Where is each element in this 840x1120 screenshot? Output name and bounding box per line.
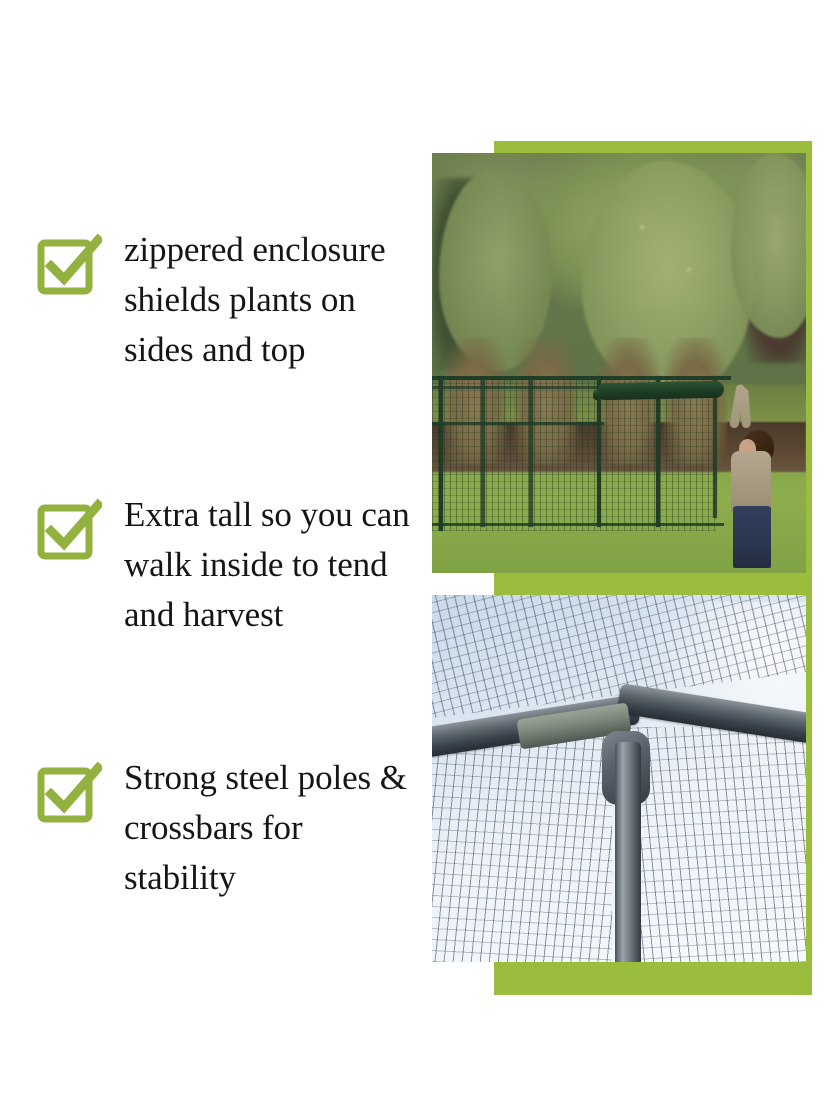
- feature-label: Extra tall so you can walk inside to ten…: [124, 490, 414, 640]
- feature-item: Strong steel poles & crossbars for stabi…: [36, 753, 414, 903]
- enclosure-pole: [597, 376, 601, 527]
- photo-garden-enclosure: [432, 153, 806, 573]
- feature-label: zippered enclosure shields plants on sid…: [124, 225, 414, 375]
- rolled-netting-bundle: [596, 381, 723, 401]
- steel-crossbar-right: [617, 683, 806, 745]
- enclosure-mid-rail: [432, 422, 604, 425]
- enclosure-pole: [713, 376, 717, 519]
- person-torso: [731, 451, 771, 513]
- checkbox-checked-icon: [36, 761, 102, 827]
- checkbox-checked-icon: [36, 498, 102, 564]
- netting-roof: [432, 595, 806, 720]
- enclosure-pole: [439, 376, 443, 531]
- shrub-left: [432, 178, 499, 371]
- checkbox-checked-icon: [36, 233, 102, 299]
- steel-crossbar-left: [432, 694, 640, 758]
- netting-left-wall: [432, 727, 612, 962]
- berry-bush: [443, 338, 507, 464]
- berry-bush: [597, 338, 661, 464]
- background-trees: [432, 153, 806, 397]
- tree-canopy-center: [582, 161, 754, 396]
- green-accent-block: [494, 141, 812, 995]
- person-hair: [742, 430, 774, 464]
- enclosure-top-rail: [432, 376, 731, 380]
- person-arm-raised: [729, 384, 746, 429]
- enclosure-pole: [481, 376, 485, 527]
- photo-steel-corner-joint: [432, 595, 806, 962]
- enclosure-pole: [656, 376, 660, 527]
- netting-right-wall: [626, 727, 806, 962]
- tree-canopy-left: [439, 170, 551, 372]
- feature-label: Strong steel poles & crossbars for stabi…: [124, 753, 414, 903]
- person-arm-raised: [740, 388, 752, 429]
- enclosure-pole: [529, 376, 533, 527]
- mulch-bed: [432, 422, 806, 472]
- feature-item: Extra tall so you can walk inside to ten…: [36, 490, 414, 640]
- lawn: [432, 447, 806, 573]
- person-legs: [733, 506, 771, 568]
- enclosure-base-rail: [432, 523, 724, 526]
- netting-sleeve: [516, 702, 631, 749]
- meadow-band: [432, 384, 806, 476]
- enclosure-top-rail-back: [432, 386, 656, 389]
- enclosure-net-panel: [432, 376, 716, 531]
- steel-vertical-pole: [615, 742, 641, 962]
- netting-roll-end: [593, 390, 600, 400]
- steel-corner-joint: [602, 731, 650, 805]
- person-face: [739, 439, 756, 459]
- feature-item: zippered enclosure shields plants on sid…: [36, 225, 414, 375]
- berry-bush: [664, 338, 728, 464]
- shrub-right: [746, 195, 806, 363]
- berry-bush: [514, 338, 578, 464]
- sky-glow: [649, 602, 806, 771]
- tree-canopy-right: [731, 153, 806, 338]
